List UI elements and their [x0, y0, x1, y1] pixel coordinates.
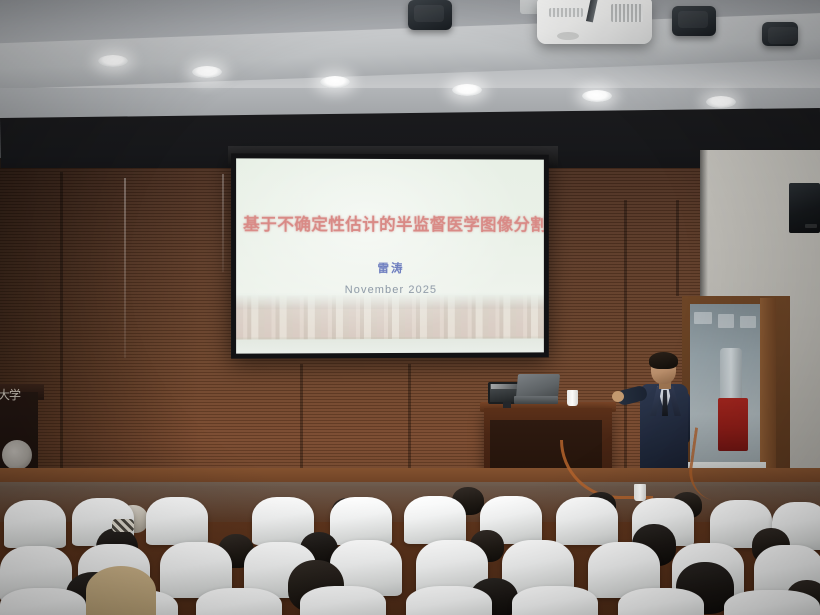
audience-chair [330, 497, 392, 545]
presenter-hair [649, 352, 678, 369]
paper-cup-podium [567, 390, 578, 406]
slide-date: November 2025 [236, 284, 544, 296]
wall-seam-6 [624, 200, 627, 470]
banner-university-text: 大学 [0, 386, 38, 402]
wall-seam-3 [60, 172, 63, 472]
projector-vent-right [611, 4, 643, 22]
downlight-3 [320, 76, 350, 88]
downlight-6 [706, 96, 736, 108]
door-wall-panel-1 [694, 312, 712, 324]
door-wall-panel-3 [740, 316, 756, 328]
hair-clip-accessory [112, 519, 134, 532]
ceiling-speaker-right-icon [672, 6, 716, 36]
audience-chair [146, 497, 208, 545]
audience-chair [4, 500, 66, 548]
wall-seam-2 [222, 174, 224, 272]
projector-vent-left [549, 8, 583, 17]
slide-author: 雷涛 [236, 260, 544, 276]
audience-chair [556, 497, 618, 545]
monitor-stand [503, 402, 511, 408]
audience-chair [404, 496, 466, 544]
wall-speaker-icon [789, 183, 820, 233]
door-leaf[interactable] [760, 298, 776, 480]
downlight-1 [98, 55, 128, 67]
wall-seam-5 [408, 364, 411, 474]
wall-seam-4 [300, 364, 303, 474]
door-wall-panel-2 [718, 314, 734, 328]
downlight-5 [582, 90, 612, 102]
audience-chair [618, 588, 704, 615]
slide-title: 基于不确定性估计的半监督医学图像分割 [242, 211, 544, 235]
presentation-slide: 基于不确定性估计的半监督医学图像分割 雷涛 November 2025 [236, 158, 544, 353]
audience-chair [0, 588, 86, 615]
projector-mount-arm [586, 0, 599, 22]
audience-chair [724, 590, 820, 615]
university-emblem-icon [2, 440, 32, 470]
projector-lens [557, 32, 579, 40]
laptop-keyboard[interactable] [514, 396, 558, 404]
wall-seam-7 [676, 200, 679, 296]
paper-cup-floor [634, 484, 646, 501]
projection-screen: 基于不确定性估计的半监督医学图像分割 雷涛 November 2025 [231, 153, 549, 358]
audience-chair [406, 586, 492, 615]
downlight-2 [192, 66, 222, 78]
audience-shoulders-tan [86, 566, 156, 615]
presenter-gesturing-hand [612, 391, 624, 402]
projector [537, 0, 652, 44]
audience-chair [196, 588, 282, 615]
slide-campus-photo [236, 295, 544, 340]
laptop-screen[interactable] [516, 374, 560, 398]
slide-photo-ground [236, 336, 544, 353]
lecture-hall-photo: 大学 基于不确定性估计的半监督医学图像分割 雷涛 November 2025 [0, 0, 820, 615]
ceiling-speaker-far-right-icon [762, 22, 798, 46]
wall-seam-1 [124, 178, 126, 358]
downlight-4 [452, 84, 482, 96]
audience-chair [300, 586, 386, 615]
ceiling-speaker-left-icon [408, 0, 452, 30]
audience-chair [512, 586, 598, 615]
